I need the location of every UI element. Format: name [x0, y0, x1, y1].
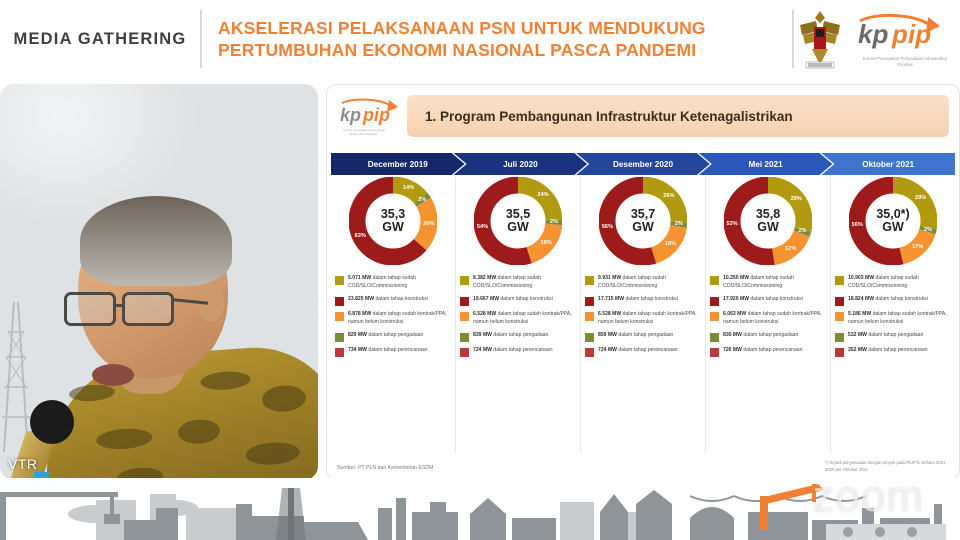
legend-label: 6.878 MW dalam tahap sudah kontrak/PPA, …	[348, 311, 451, 327]
legend-item: 5.071 MW dalam tahap sudah COD/SLO/Commi…	[335, 275, 451, 291]
legend-color-swatch	[335, 312, 344, 321]
legend-item: 18.824 MW dalam tahap konstruksi	[835, 296, 951, 306]
timeline-arrow-row: December 2019Juli 2020Desember 2020Mei 2…	[331, 153, 955, 175]
microphone-head-icon	[30, 400, 74, 444]
donut-slice-label: 56%	[602, 224, 613, 230]
slide-header: kp pip Komite Percepatan Penyediaan Infr…	[327, 85, 959, 149]
vtr-label: VTR	[8, 456, 38, 472]
legend-color-swatch	[835, 297, 844, 306]
donut-chart[interactable]: 29%2%17%56%35,0*)GW	[849, 177, 937, 265]
legend-item: 830 MW dalam tahap pengadaan	[710, 332, 826, 342]
legend-item: 724 MW dalam tahap perencanaan	[460, 347, 576, 357]
speaker-video-tile[interactable]: VTR	[0, 84, 318, 480]
legend-label: 830 MW dalam tahap pengadaan	[723, 332, 798, 340]
legend-label: 859 MW dalam tahap pengadaan	[598, 332, 673, 340]
legend-label: 8.382 MW dalam tahap sudah COD/SLO/Commi…	[473, 275, 576, 291]
legend-color-swatch	[585, 348, 594, 357]
donut-slice-label: 53%	[726, 221, 737, 227]
legend-item: 9.931 MW dalam tahap sudah COD/SLO/Commi…	[585, 275, 701, 291]
legend-label: 839 MW dalam tahap pengadaan	[473, 332, 548, 340]
legend-color-swatch	[835, 348, 844, 357]
legend-color-swatch	[835, 276, 844, 285]
legend: 9.931 MW dalam tahap sudah COD/SLO/Commi…	[585, 275, 701, 357]
legend-item: 829 MW dalam tahap pengadaan	[335, 332, 451, 342]
legend-item: 6.528 MW dalam tahap sudah kontrak/PPA, …	[585, 311, 701, 327]
legend: 10.250 MW dalam tahap sudah COD/SLO/Comm…	[710, 275, 826, 357]
legend-label: 23.825 MW dalam tahap konstruksi	[348, 296, 428, 304]
legend-color-swatch	[835, 312, 844, 321]
donut-chart-container: 24%2%18%54%35,5GW	[460, 177, 576, 269]
source-note: Sumber: PT PLN dan Kementerian ESDM	[337, 465, 434, 471]
screen-root: MEDIA GATHERING AKSELERASI PELAKSANAAN P…	[0, 0, 960, 540]
timeline-period-label: Juli 2020	[503, 160, 538, 169]
slide-section-title: 1. Program Pembangunan Infrastruktur Ket…	[407, 95, 949, 137]
slide-footnote: *) Terjadi penyesuaian dengan proyek pad…	[825, 460, 951, 473]
svg-text:Infrastruktur Prioritas: Infrastruktur Prioritas	[349, 132, 377, 136]
legend: 10.903 MW dalam tahap sudah COD/SLO/Comm…	[835, 275, 951, 357]
donut-slice-label: 14%	[403, 185, 414, 191]
legend-label: 10.903 MW dalam tahap sudah COD/SLO/Comm…	[848, 275, 951, 291]
donut-unit: GW	[757, 221, 779, 234]
shared-slide-panel[interactable]: kp pip Komite Percepatan Penyediaan Infr…	[326, 84, 960, 480]
timeline-period-label: Mei 2021	[749, 160, 783, 169]
legend-color-swatch	[585, 297, 594, 306]
presentation-header: MEDIA GATHERING AKSELERASI PELAKSANAAN P…	[0, 0, 960, 78]
donut-chart-container: 29%2%17%56%35,0*)GW	[835, 177, 951, 269]
donut-slice-label: 29%	[791, 196, 802, 202]
legend-label: 18.824 MW dalam tahap konstruksi	[848, 296, 928, 304]
presentation-title: AKSELERASI PELAKSANAAN PSN UNTUK MENDUKU…	[202, 17, 792, 62]
legend-item: 10.250 MW dalam tahap sudah COD/SLO/Comm…	[710, 275, 826, 291]
legend-label: 5.071 MW dalam tahap sudah COD/SLO/Commi…	[348, 275, 451, 291]
donut-slice-label: 2%	[924, 227, 932, 233]
donut-slice-label: 2%	[550, 219, 558, 225]
speaker-hair	[80, 196, 232, 286]
svg-text:kp: kp	[340, 105, 361, 125]
legend-color-swatch	[460, 348, 469, 357]
period-column-3: 26%2%18%56%35,7GW9.931 MW dalam tahap su…	[580, 177, 705, 453]
legend-color-swatch	[335, 348, 344, 357]
legend-color-swatch	[335, 333, 344, 342]
donut-chart[interactable]: 24%2%18%54%35,5GW	[474, 177, 562, 265]
legend-label: 6.528 MW dalam tahap sudah kontrak/PPA, …	[473, 311, 576, 327]
legend-color-swatch	[460, 312, 469, 321]
legend-label: 5.186 MW dalam tahap sudah kontrak/PPA, …	[848, 311, 951, 327]
legend-item: 726 MW dalam tahap perencanaan	[710, 347, 826, 357]
media-gathering-label: MEDIA GATHERING	[0, 30, 200, 49]
legend-label: 829 MW dalam tahap pengadaan	[348, 332, 423, 340]
donut-slice-label: 2%	[675, 221, 683, 227]
legend-label: 6.528 MW dalam tahap sudah kontrak/PPA, …	[598, 311, 701, 327]
donut-slice-label: 18%	[541, 240, 552, 246]
legend-item: 532 MW dalam tahap pengadaan	[835, 332, 951, 342]
bottom-decoration-strip: zoom	[0, 478, 960, 540]
legend-label: 6.063 MW dalam tahap sudah kontrak/PPA, …	[723, 311, 826, 327]
donut-chart[interactable]: 26%2%18%56%35,7GW	[599, 177, 687, 265]
industrial-skyline-icon	[0, 478, 960, 540]
legend-color-swatch	[585, 312, 594, 321]
legend-item: 5.186 MW dalam tahap sudah kontrak/PPA, …	[835, 311, 951, 327]
period-column-4: 29%2%17%53%35,8GW10.250 MW dalam tahap s…	[705, 177, 830, 453]
donut-chart[interactable]: 29%2%17%53%35,8GW	[724, 177, 812, 265]
donut-slice-label: 24%	[537, 192, 548, 198]
donut-slice-label: 26%	[663, 193, 674, 199]
donut-slice-label: 17%	[912, 244, 923, 250]
legend-item: 17.920 MW dalam tahap konstruksi	[710, 296, 826, 306]
legend-item: 734 MW dalam tahap perencanaan	[335, 347, 451, 357]
timeline-period-label: Desember 2020	[613, 160, 673, 169]
eyeglasses-right-lens	[122, 292, 174, 326]
legend: 8.382 MW dalam tahap sudah COD/SLO/Commi…	[460, 275, 576, 357]
donut-chart[interactable]: 14%2%20%63%35,3GW	[349, 177, 437, 265]
donut-unit: GW	[882, 221, 904, 234]
legend-label: 17.920 MW dalam tahap konstruksi	[723, 296, 803, 304]
donut-unit: GW	[632, 221, 654, 234]
legend-color-swatch	[710, 348, 719, 357]
kppip-tagline: Komite Percepatan Penyediaan Infrastrukt…	[862, 56, 948, 68]
garuda-emblem-icon	[794, 7, 846, 71]
legend-color-swatch	[460, 276, 469, 285]
legend-color-swatch	[710, 312, 719, 321]
timeline-arrow-2[interactable]: Juli 2020	[454, 153, 588, 175]
legend-item: 724 MW dalam tahap perencanaan	[585, 347, 701, 357]
donut-chart-container: 29%2%17%53%35,8GW	[710, 177, 826, 269]
legend-color-swatch	[585, 276, 594, 285]
period-column-2: 24%2%18%54%35,5GW8.382 MW dalam tahap su…	[455, 177, 580, 453]
speaker-mouth	[92, 364, 134, 386]
period-column-5: 29%2%17%56%35,0*)GW10.903 MW dalam tahap…	[830, 177, 955, 453]
legend-label: 532 MW dalam tahap pengadaan	[848, 332, 923, 340]
donut-slice-label: 29%	[915, 195, 926, 201]
donut-center-value: 35,7GW	[621, 199, 665, 243]
legend-color-swatch	[710, 333, 719, 342]
legend-label: 724 MW dalam tahap perencanaan	[598, 347, 678, 355]
donut-slice-label: 54%	[477, 224, 488, 230]
legend-item: 839 MW dalam tahap pengadaan	[460, 332, 576, 342]
donut-slice-label: 2%	[798, 228, 806, 234]
legend-label: 19.667 MW dalam tahap konstruksi	[473, 296, 553, 304]
legend-color-swatch	[460, 333, 469, 342]
legend-label: 9.931 MW dalam tahap sudah COD/SLO/Commi…	[598, 275, 701, 291]
donut-slice-label: 20%	[423, 221, 434, 227]
timeline-arrow-5[interactable]: Oktober 2021	[821, 153, 955, 175]
donut-slice-label: 17%	[785, 246, 796, 252]
svg-text:pip: pip	[362, 105, 390, 125]
legend-item: 6.878 MW dalam tahap sudah kontrak/PPA, …	[335, 311, 451, 327]
legend-label: 10.250 MW dalam tahap sudah COD/SLO/Comm…	[723, 275, 826, 291]
donut-center-value: 35,3GW	[371, 199, 415, 243]
legend-color-swatch	[710, 297, 719, 306]
kppip-logo: kp p ip Komite Percepatan Penyediaan Inf…	[856, 11, 948, 67]
donut-chart-container: 14%2%20%63%35,3GW	[335, 177, 451, 269]
timeline-arrow-1[interactable]: December 2019	[331, 153, 465, 175]
legend-item: 23.825 MW dalam tahap konstruksi	[335, 296, 451, 306]
legend-label: 17.715 MW dalam tahap konstruksi	[598, 296, 678, 304]
donut-center-value: 35,5GW	[496, 199, 540, 243]
donut-center-value: 35,8GW	[746, 199, 790, 243]
legend-item: 6.063 MW dalam tahap sudah kontrak/PPA, …	[710, 311, 826, 327]
legend-color-swatch	[335, 276, 344, 285]
donut-slice-label: 63%	[355, 233, 366, 239]
legend-item: 19.667 MW dalam tahap konstruksi	[460, 296, 576, 306]
slide-kppip-logo: kp pip Komite Percepatan Penyediaan Infr…	[339, 95, 401, 137]
header-logo-group: kp p ip Komite Percepatan Penyediaan Inf…	[794, 7, 960, 71]
donut-chart-container: 26%2%18%56%35,7GW	[585, 177, 701, 269]
svg-text:kp: kp	[858, 19, 888, 49]
legend-item: 10.903 MW dalam tahap sudah COD/SLO/Comm…	[835, 275, 951, 291]
donut-slice-label: 2%	[418, 197, 426, 203]
legend-color-swatch	[585, 333, 594, 342]
legend-color-swatch	[335, 297, 344, 306]
presentation-title-line2: PERTUMBUHAN EKONOMI NASIONAL PASCA PANDE…	[218, 39, 792, 61]
svg-text:p: p	[891, 19, 908, 49]
period-column-1: 14%2%20%63%35,3GW5.071 MW dalam tahap su…	[331, 177, 455, 453]
timeline-period-label: December 2019	[368, 160, 428, 169]
legend-color-swatch	[460, 297, 469, 306]
legend-color-swatch	[710, 276, 719, 285]
presentation-title-line1: AKSELERASI PELAKSANAAN PSN UNTUK MENDUKU…	[218, 17, 792, 39]
legend: 5.071 MW dalam tahap sudah COD/SLO/Commi…	[335, 275, 451, 357]
donut-center-value: 35,0*)GW	[871, 199, 915, 243]
timeline-arrow-3[interactable]: Desember 2020	[576, 153, 710, 175]
donut-slice-label: 56%	[852, 222, 863, 228]
eyeglasses-bridge	[116, 304, 124, 307]
legend-item: 8.382 MW dalam tahap sudah COD/SLO/Commi…	[460, 275, 576, 291]
timeline-period-label: Oktober 2021	[862, 160, 914, 169]
legend-label: 724 MW dalam tahap perencanaan	[473, 347, 553, 355]
legend-item: 6.528 MW dalam tahap sudah kontrak/PPA, …	[460, 311, 576, 327]
legend-item: 17.715 MW dalam tahap konstruksi	[585, 296, 701, 306]
period-columns: 14%2%20%63%35,3GW5.071 MW dalam tahap su…	[331, 177, 955, 453]
donut-unit: GW	[382, 221, 404, 234]
eyeglasses-left-lens	[64, 292, 116, 326]
legend-item: 859 MW dalam tahap pengadaan	[585, 332, 701, 342]
timeline-arrow-4[interactable]: Mei 2021	[699, 153, 833, 175]
legend-color-swatch	[835, 333, 844, 342]
legend-item: 352 MW dalam tahap perencanaan	[835, 347, 951, 357]
legend-label: 726 MW dalam tahap perencanaan	[723, 347, 803, 355]
legend-label: 734 MW dalam tahap perencanaan	[348, 347, 428, 355]
donut-slice-label: 18%	[665, 241, 676, 247]
legend-label: 352 MW dalam tahap perencanaan	[848, 347, 928, 355]
donut-unit: GW	[507, 221, 529, 234]
